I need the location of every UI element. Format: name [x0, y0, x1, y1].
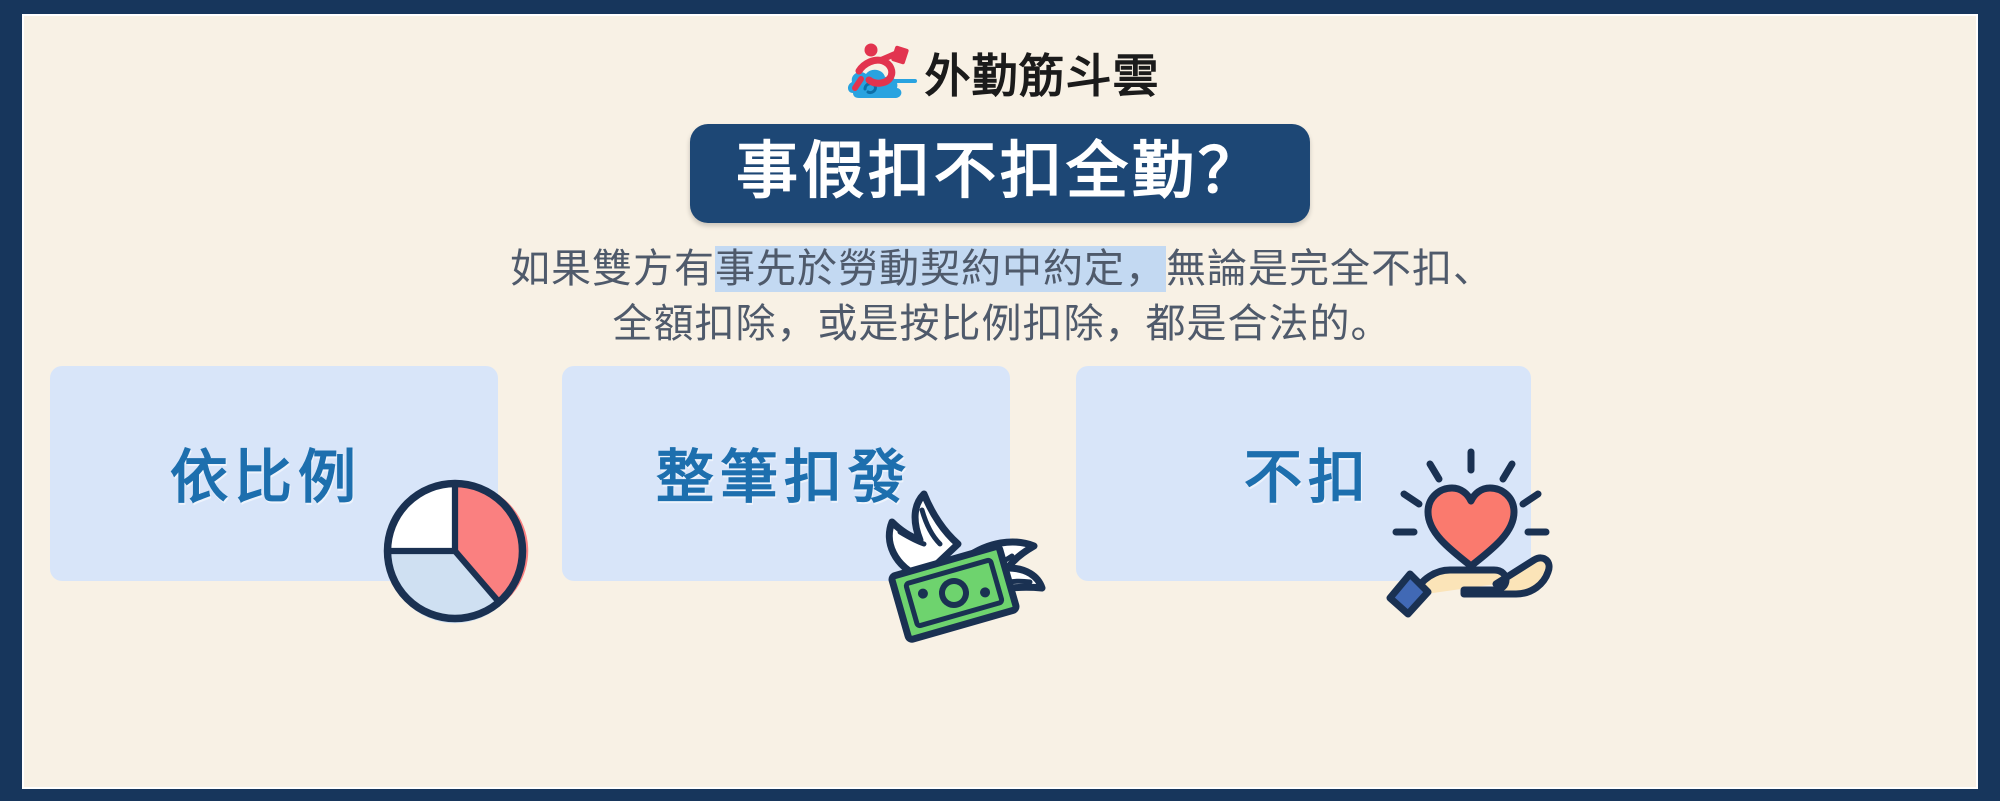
pie-chart-icon	[380, 476, 530, 626]
subtitle-block: 如果雙方有事先於勞動契約中約定，無論是完全不扣、 全額扣除，或是按比例扣除，都是…	[24, 242, 1978, 352]
subtitle-line-2: 全額扣除，或是按比例扣除，都是合法的。	[24, 297, 1978, 352]
brand-logo: 外勤筋斗雲	[24, 38, 1978, 110]
subtitle-line1-before: 如果雙方有	[510, 246, 715, 292]
outer-frame: 外勤筋斗雲 事假扣不扣全勤？ 如果雙方有事先於勞動契約中約定，無論是完全不扣、 …	[0, 0, 2000, 801]
winged-money-icon	[862, 486, 1052, 641]
option-card-full-deduction[interactable]: 整筆扣發	[562, 366, 1010, 581]
option-card-proportional[interactable]: 依比例	[50, 366, 498, 581]
brand-name: 外勤筋斗雲	[925, 53, 1160, 99]
option-card-no-deduction[interactable]: 不扣	[1076, 366, 1531, 581]
page-title: 事假扣不扣全勤？	[736, 136, 1264, 205]
page-canvas: 外勤筋斗雲 事假扣不扣全勤？ 如果雙方有事先於勞動契約中約定，無論是完全不扣、 …	[22, 14, 1978, 789]
option-card-label: 依比例	[170, 448, 362, 506]
subtitle-line-1: 如果雙方有事先於勞動契約中約定，無論是完全不扣、	[24, 242, 1978, 297]
subtitle-line1-after: 無論是完全不扣、	[1166, 246, 1494, 292]
options-row: 依比例	[50, 366, 1956, 586]
heart-in-hand-icon	[1376, 444, 1566, 614]
subtitle-line1-highlight: 事先於勞動契約中約定，	[715, 246, 1166, 292]
runner-cloud-logo-icon	[845, 41, 919, 107]
option-card-label: 不扣	[1244, 448, 1372, 506]
title-banner: 事假扣不扣全勤？	[690, 124, 1310, 223]
